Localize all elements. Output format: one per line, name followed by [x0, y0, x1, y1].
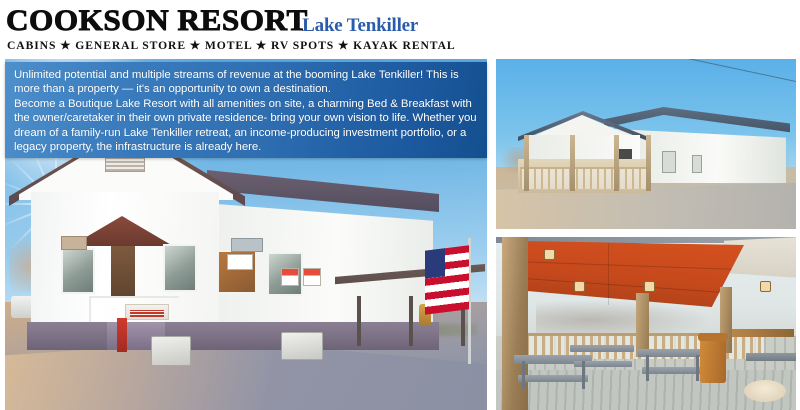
support-post [636, 293, 649, 357]
store-building [31, 142, 431, 324]
ceiling-light-icon [574, 281, 585, 292]
window [163, 244, 197, 292]
table-leg [696, 355, 699, 381]
ceiling-seam [608, 243, 609, 305]
bowl [744, 380, 786, 402]
wall-sign [281, 268, 299, 286]
red-feather-flag [117, 318, 127, 352]
gable-vent [105, 156, 145, 172]
wall-sign [227, 254, 253, 270]
porch-banner [125, 304, 169, 320]
secondary-photo-porch-building [496, 59, 796, 229]
brand-title: COOKSON RESORT [6, 6, 308, 36]
picnic-table [570, 345, 634, 352]
window [61, 248, 95, 294]
porch-post [524, 135, 529, 191]
secondary-photo-pavilion [496, 237, 796, 410]
ac-condenser [281, 332, 323, 360]
picnic-table-bench [518, 375, 588, 382]
window [662, 151, 676, 173]
window-ac-unit [231, 238, 263, 252]
amenities-tagline: CABINS ★ GENERAL STORE ★ MOTEL ★ RV SPOT… [7, 38, 456, 52]
description-overlay: Unlimited potential and multiple streams… [5, 62, 487, 158]
porch-post [570, 135, 575, 191]
description-paragraph-1: Unlimited potential and multiple streams… [14, 68, 478, 97]
porch-post [646, 135, 651, 191]
table-leg [582, 361, 585, 389]
ceiling-light-icon [760, 281, 771, 292]
ceiling-light-icon [544, 249, 555, 260]
picnic-table-bench [642, 367, 704, 374]
window-ac-unit [61, 236, 87, 250]
carport-post [357, 296, 361, 346]
window [692, 155, 702, 173]
wall-sign [303, 268, 321, 286]
brand-lockup: COOKSON RESORT Lake Tenkiller [6, 6, 418, 36]
table-leg [522, 361, 525, 389]
american-flag-icon [425, 245, 469, 314]
porch-railing [520, 167, 648, 189]
listing-flyer: COOKSON RESORT Lake Tenkiller CABINS ★ G… [0, 0, 800, 410]
porch-post [614, 135, 619, 191]
brand-subtitle-lake-tenkiller: Lake Tenkiller [302, 16, 418, 35]
ac-condenser [151, 336, 191, 366]
picnic-table [746, 353, 796, 361]
trash-receptacle [700, 337, 726, 383]
header-banner: COOKSON RESORT Lake Tenkiller CABINS ★ G… [0, 0, 800, 56]
serving-counter [732, 329, 794, 337]
table-leg [646, 355, 649, 381]
description-paragraph-2: Become a Boutique Lake Resort with all a… [14, 97, 478, 155]
carport-post [409, 296, 413, 346]
ceiling-light-icon [644, 281, 655, 292]
entry-door [111, 246, 135, 298]
concrete-foundation [27, 322, 439, 350]
